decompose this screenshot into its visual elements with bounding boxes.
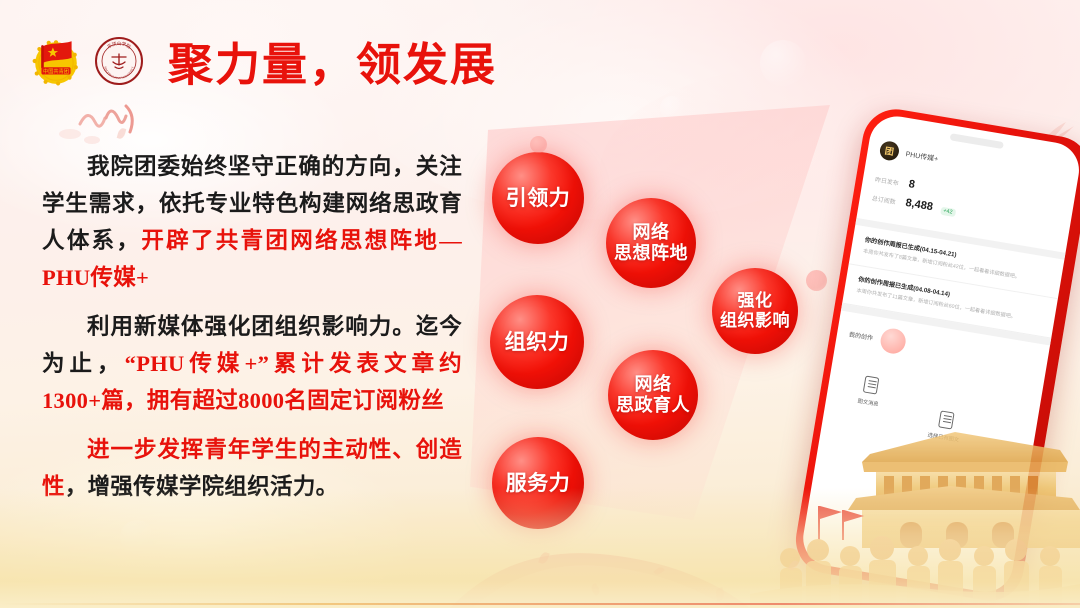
communist-youth-league-emblem-icon: 中国共青团 [30,35,82,87]
bubble-label: 引领力 [502,186,575,211]
action-button[interactable]: 选择已有图文 [917,407,973,445]
my-works-thumbnail[interactable] [879,326,908,355]
body-text-block: 我院团委始终坚守正确的方向，关注学生需求，依托专业特色构建网络思政育人体系，开辟… [42,148,462,517]
bubble-b1[interactable]: 引领力 [492,152,584,244]
my-works-label: 我的创作 [849,329,874,342]
petal-decor [589,583,601,596]
paragraph-2: 利用新媒体强化团组织影响力。迄今为止，“PHU传媒+”累计发表文章约1300+篇… [42,308,462,419]
bubble-label: 强化组织影响 [716,291,794,331]
petal-decor [538,551,550,565]
action-label: 选择已有图文 [927,430,960,443]
small-bubble-decor [806,270,827,291]
stat-label: 总订阅数 [871,193,898,206]
small-bubble-decor [530,136,547,153]
stat-label: 昨日发布 [874,174,901,187]
stat-value: 8,488 [905,197,934,213]
stat-badge: +42 [940,207,956,217]
paragraph-1: 我院团委始终坚守正确的方向，关注学生需求，依托专业特色构建网络思政育人体系，开辟… [42,148,462,296]
action-button[interactable]: 图文消息 [838,372,898,432]
bubble-label: 服务力 [502,471,575,496]
bubble-label: 网络思想阵地 [610,222,692,264]
bubble-b6[interactable]: 服务力 [492,437,584,529]
petal-decor [715,587,726,601]
slide-canvas: 中国共青团 平顶山学院 PINGDINGSHAN UNIVERSITY 聚力量，… [0,0,1080,608]
bokeh-decor [660,96,684,120]
page-title: 聚力量，领发展 [168,28,497,93]
bokeh-decor [760,40,806,86]
app-name: PHU传媒+ [905,149,939,164]
bubble-label: 组织力 [501,330,574,355]
action-label: 图文消息 [857,396,879,407]
bubble-b3[interactable]: 强化组织影响 [712,268,798,354]
article-icon [863,375,880,394]
avatar: 团 [879,140,901,162]
plain-text: ，增强传媒学院组织活力。 [65,474,339,499]
select-article-icon [938,410,955,429]
bubble-label: 网络思政育人 [612,374,694,416]
slide-header: 中国共青团 平顶山学院 PINGDINGSHAN UNIVERSITY 聚力量，… [30,28,497,93]
petal-decor [653,565,665,576]
phone-screen: 团 PHU传媒+ 昨日发布8总订阅数8,488+42 你的创作周报已生成(04.… [799,112,1080,596]
bokeh-decor [120,520,154,554]
swoosh-decor [420,522,750,608]
university-seal-icon: 平顶山学院 PINGDINGSHAN UNIVERSITY [94,36,144,86]
phone-frame: 团 PHU传媒+ 昨日发布8总订阅数8,488+42 你的创作周报已生成(04.… [791,104,1080,606]
bubble-b2[interactable]: 网络思想阵地 [606,198,696,288]
bottom-accent-line [0,603,1080,605]
paragraph-3: 进一步发挥青年学生的主动性、创造性，增强传媒学院组织活力。 [42,431,462,505]
stat-value: 8 [908,178,916,191]
bubble-b4[interactable]: 组织力 [490,295,584,389]
phone-mockup: 团 PHU传媒+ 昨日发布8总订阅数8,488+42 你的创作周报已生成(04.… [791,104,1080,606]
bubble-b5[interactable]: 网络思政育人 [608,350,698,440]
